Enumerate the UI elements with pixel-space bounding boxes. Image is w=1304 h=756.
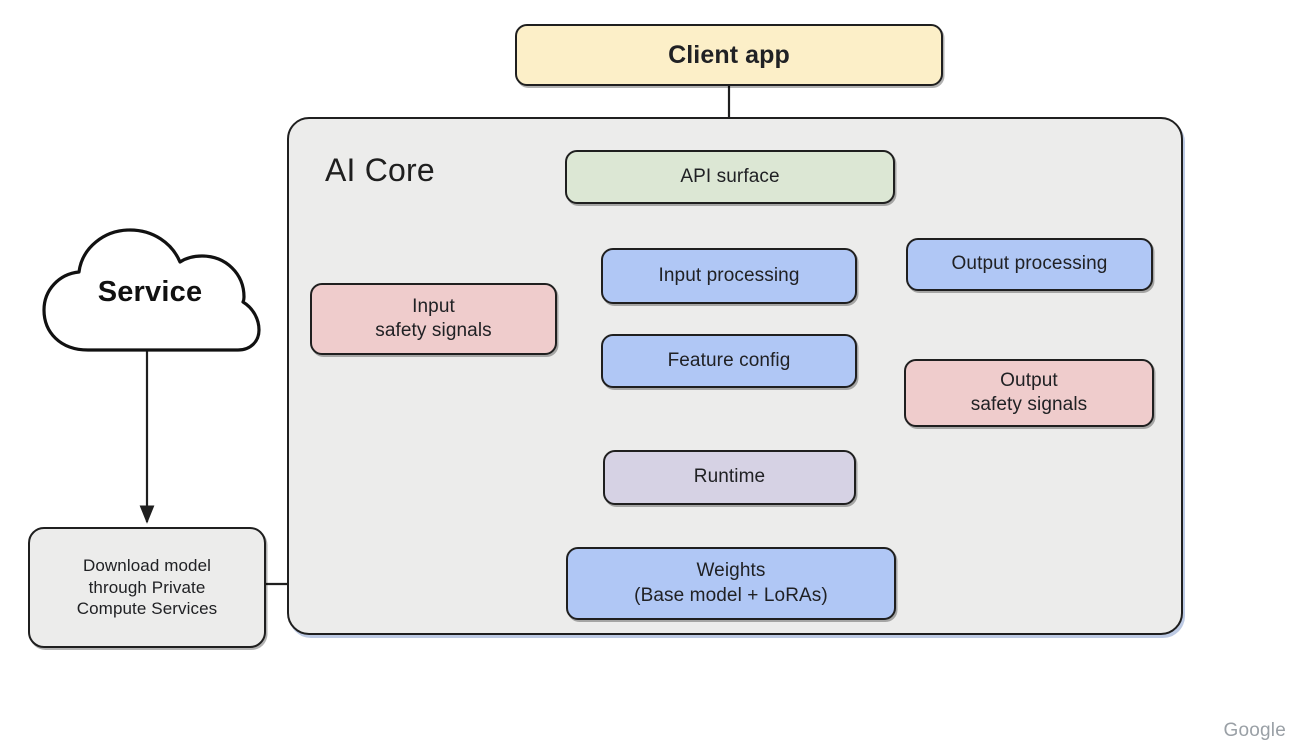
google-watermark: Google <box>1224 720 1286 742</box>
input-safety-signals-node[interactable]: Input safety signals <box>310 283 557 355</box>
input-processing-node[interactable]: Input processing <box>601 248 857 304</box>
input-safety-line-2: safety signals <box>375 320 492 341</box>
output-safety-signals-node[interactable]: Output safety signals <box>904 359 1154 427</box>
client-app-node[interactable]: Client app <box>515 24 943 86</box>
feature-config-node[interactable]: Feature config <box>601 334 857 388</box>
service-cloud-label: Service <box>30 222 270 362</box>
diagram-canvas: AI Core <box>0 0 1304 756</box>
api-surface-label: API surface <box>680 165 779 189</box>
input-safety-line-1: Input <box>412 296 455 317</box>
runtime-label: Runtime <box>694 465 765 489</box>
download-model-line-3: Compute Services <box>77 599 218 618</box>
output-safety-line-2: safety signals <box>971 394 1088 415</box>
feature-config-label: Feature config <box>668 349 791 373</box>
client-app-label: Client app <box>668 39 790 71</box>
download-model-node[interactable]: Download model through Private Compute S… <box>28 527 266 648</box>
download-model-label: Download model through Private Compute S… <box>77 555 218 620</box>
api-surface-node[interactable]: API surface <box>565 150 895 204</box>
weights-node[interactable]: Weights (Base model + LoRAs) <box>566 547 896 620</box>
output-safety-signals-label: Output safety signals <box>971 369 1088 418</box>
output-safety-line-1: Output <box>1000 370 1058 391</box>
download-model-line-1: Download model <box>83 556 211 575</box>
output-processing-node[interactable]: Output processing <box>906 238 1153 291</box>
input-safety-signals-label: Input safety signals <box>375 295 492 344</box>
input-processing-label: Input processing <box>658 264 799 288</box>
download-model-line-2: through Private <box>89 578 206 597</box>
weights-line-1: Weights <box>696 560 765 581</box>
runtime-node[interactable]: Runtime <box>603 450 856 505</box>
ai-core-title: AI Core <box>325 152 435 189</box>
output-processing-label: Output processing <box>952 252 1108 276</box>
weights-line-2: (Base model + LoRAs) <box>634 585 828 606</box>
weights-label: Weights (Base model + LoRAs) <box>634 559 828 608</box>
